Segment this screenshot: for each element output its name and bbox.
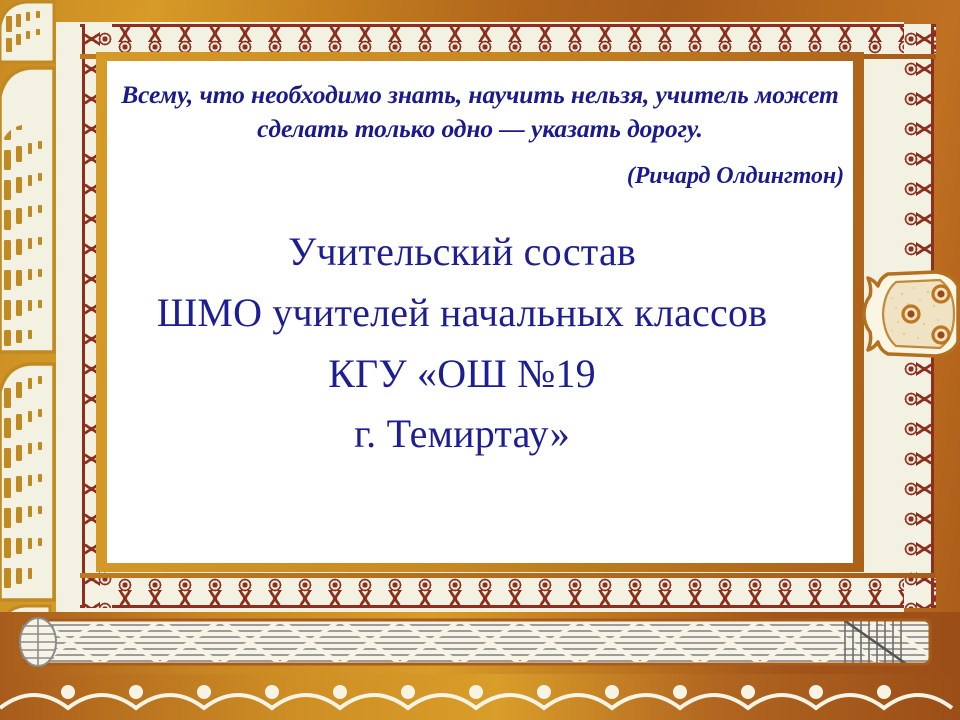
- scroll-ornament-icon: [0, 612, 960, 720]
- title-line-2: ШМО учителей начальных классов: [112, 283, 812, 344]
- quote-text: Всему, что необходимо знать, научить нел…: [110, 78, 850, 193]
- page-title: Учительский состав ШМО учителей начальны…: [112, 222, 812, 465]
- medallion-icon: [862, 262, 960, 366]
- presentation-slide: Всему, что необходимо знать, научить нел…: [0, 0, 960, 720]
- title-line-3: КГУ «ОШ №19: [112, 344, 812, 405]
- quote-line-1: Всему, что необходимо знать, научить нел…: [121, 80, 748, 109]
- title-line-1: Учительский состав: [112, 222, 812, 283]
- band-rule-bottom: [80, 573, 936, 578]
- quote-author: (Ричард Олдингтон): [110, 161, 850, 193]
- title-line-4: г. Темиртау»: [112, 404, 812, 465]
- border-band-bottom: [80, 578, 936, 608]
- border-band-top: [80, 24, 936, 54]
